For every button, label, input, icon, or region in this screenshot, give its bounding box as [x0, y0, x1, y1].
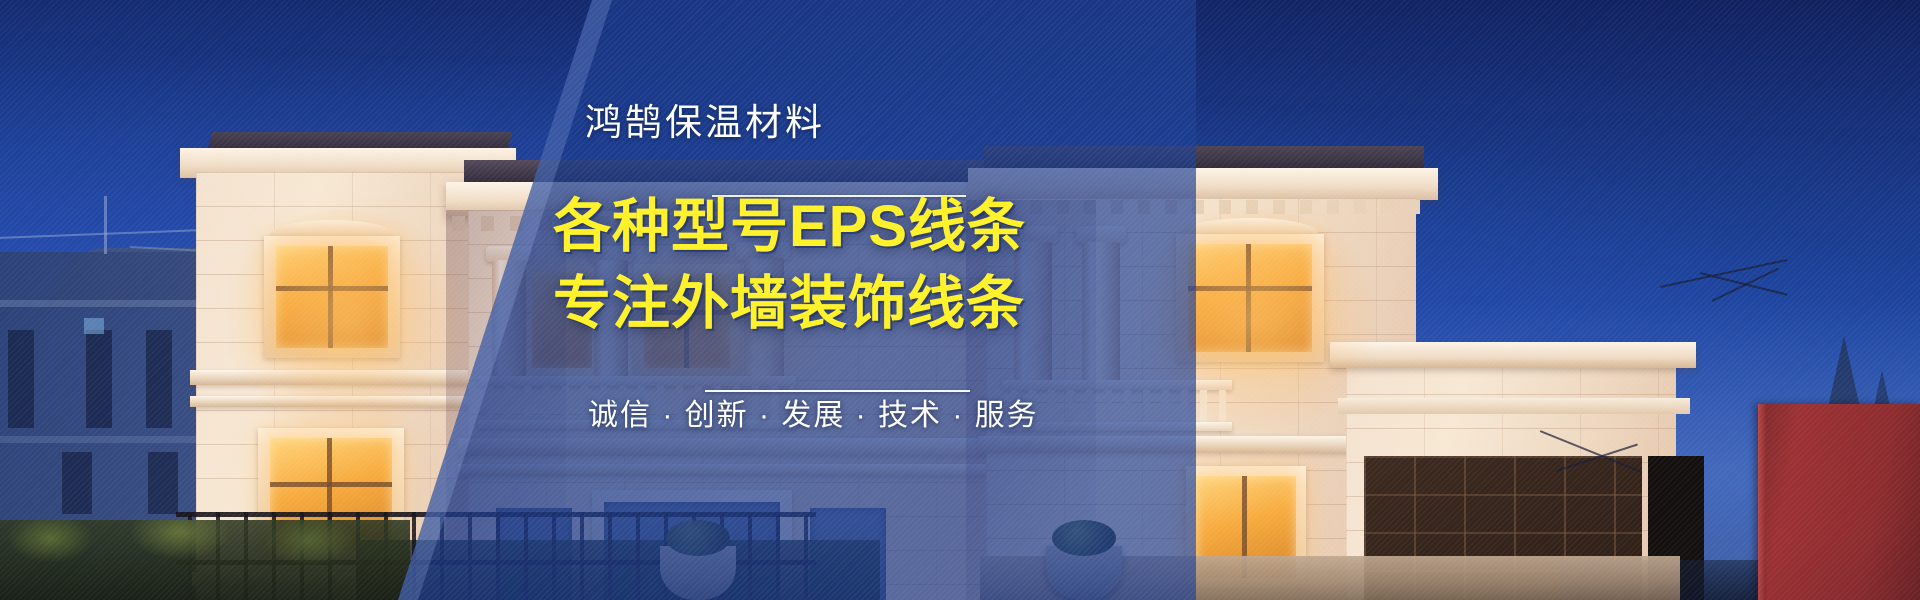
headline-line-2: 专注外墙装饰线条: [553, 265, 1026, 342]
divider-bottom: [705, 390, 970, 392]
headline: 各种型号EPS线条 专注外墙装饰线条: [553, 188, 1026, 342]
headline-line-1: 各种型号EPS线条: [553, 188, 1026, 265]
banner-copy: 鸿鹄保温材料 各种型号EPS线条 专注外墙装饰线条 诚信 · 创新 · 发展 ·…: [0, 0, 1920, 600]
company-name: 鸿鹄保温材料: [585, 103, 825, 144]
tagline: 诚信 · 创新 · 发展 · 技术 · 服务: [588, 399, 1039, 432]
promotional-banner: 鸿鹄保温材料 各种型号EPS线条 专注外墙装饰线条 诚信 · 创新 · 发展 ·…: [0, 0, 1920, 600]
